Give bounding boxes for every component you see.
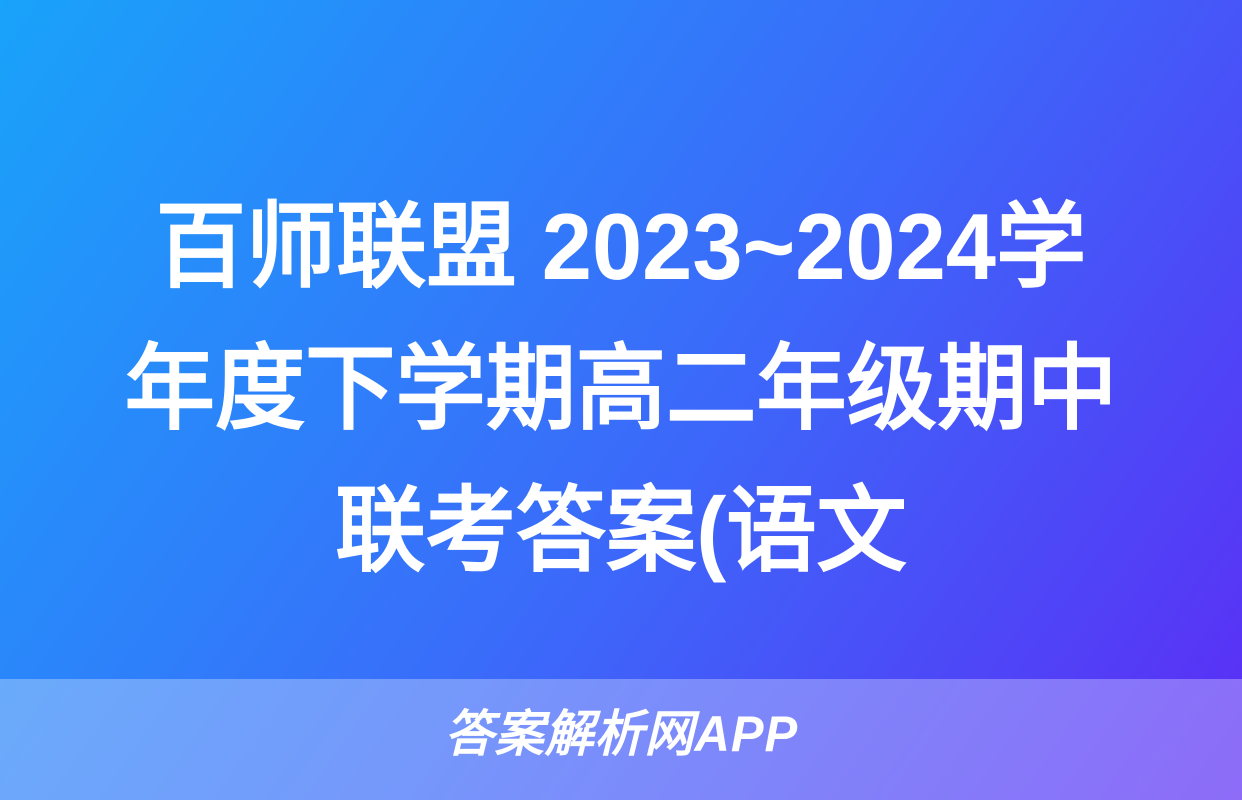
cover-canvas: 百师联盟 2023~2024学 年度下学期高二年级期中 联考答案(语文 答案解析… (0, 0, 1242, 800)
footer-overlay-band (0, 679, 1242, 800)
